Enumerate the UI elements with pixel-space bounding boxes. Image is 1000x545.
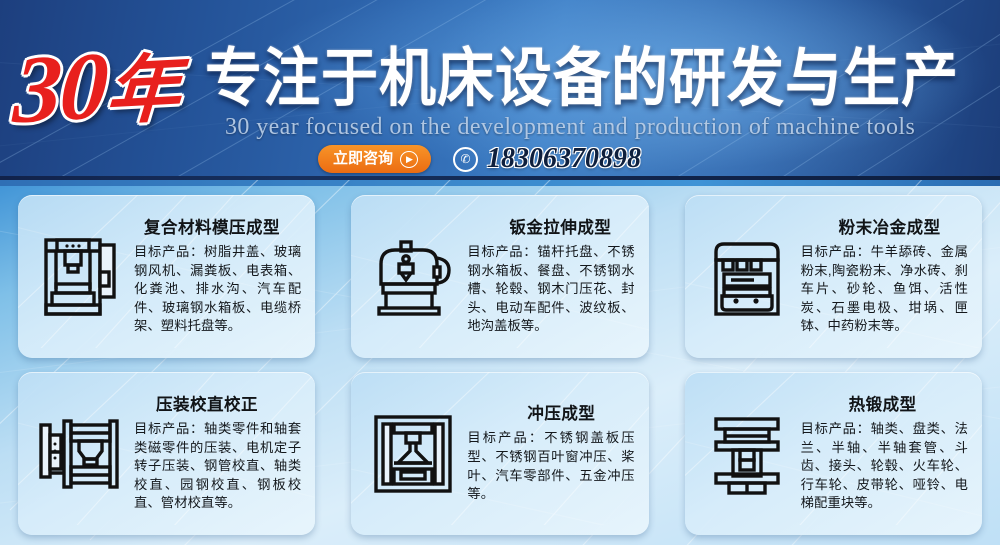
card-text-block: 粉末冶金成型 目标产品：牛羊舔砖、金属粉末,陶瓷粉末、净水砖、刹车片、砂轮、鱼饵…: [795, 217, 972, 336]
products-section: 复合材料模压成型 目标产品：树脂井盖、玻璃钢风机、漏粪板、电表箱、化粪池、排水沟…: [0, 180, 1000, 545]
product-card[interactable]: 冲压成型 目标产品：不锈钢盖板压型、不锈钢百叶窗冲压、桨叶、汽车零部件、五金冲压…: [351, 372, 648, 535]
card-description: 目标产品：轴类零件和轴套类磁零件的压装、电机定子转子压装、钢管校直、轴类校直、园…: [134, 420, 301, 513]
card-title: 压装校直校正: [134, 394, 301, 416]
consult-now-button[interactable]: 立即咨询 ▶: [318, 145, 431, 173]
page-root: 30年 专注于机床设备的研发与生产 30 year focused on the…: [0, 0, 1000, 545]
compression-molding-press-icon: [32, 229, 128, 325]
hot-forging-press-icon: [699, 406, 795, 502]
hero-banner: 30年 专注于机床设备的研发与生产 30 year focused on the…: [0, 0, 1000, 180]
arrow-right-icon: ▶: [400, 151, 418, 168]
phone-icon: ✆: [453, 147, 478, 172]
card-title: 热锻成型: [801, 394, 968, 416]
stamping-press-icon: [365, 406, 461, 502]
card-title: 冲压成型: [467, 403, 634, 425]
consult-now-label: 立即咨询: [333, 145, 393, 173]
anniversary-logo: 30年: [10, 25, 217, 155]
card-text-block: 压装校直校正 目标产品：轴类零件和轴套类磁零件的压装、电机定子转子压装、钢管校直…: [128, 394, 305, 513]
press-fitting-straightening-icon: [32, 406, 128, 502]
banner-cta-row: 立即咨询 ▶ ✆ 18306370898: [318, 144, 641, 174]
powder-metallurgy-press-icon: [699, 229, 795, 325]
anniversary-years: 30: [11, 31, 109, 143]
banner-subheadline: 30 year focused on the development and p…: [225, 113, 985, 141]
phone-block[interactable]: ✆ 18306370898: [453, 144, 641, 174]
card-title: 钣金拉伸成型: [467, 217, 634, 239]
card-description: 目标产品：锚杆托盘、不锈钢水箱板、餐盘、不锈钢水槽、轮毂、钢木门压花、封头、电动…: [467, 243, 634, 336]
product-card[interactable]: 热锻成型 目标产品：轴类、盘类、法兰、半轴、半轴套管、斗齿、接头、轮毂、火车轮、…: [685, 372, 982, 535]
card-description: 目标产品：轴类、盘类、法兰、半轴、半轴套管、斗齿、接头、轮毂、火车轮、行车轮、皮…: [801, 420, 968, 513]
product-card[interactable]: 复合材料模压成型 目标产品：树脂井盖、玻璃钢风机、漏粪板、电表箱、化粪池、排水沟…: [18, 195, 315, 358]
product-card[interactable]: 压装校直校正 目标产品：轴类零件和轴套类磁零件的压装、电机定子转子压装、钢管校直…: [18, 372, 315, 535]
anniversary-unit: 年: [104, 49, 181, 135]
card-title: 粉末冶金成型: [801, 217, 968, 239]
card-text-block: 钣金拉伸成型 目标产品：锚杆托盘、不锈钢水箱板、餐盘、不锈钢水槽、轮毂、钢木门压…: [461, 217, 638, 336]
card-text-block: 热锻成型 目标产品：轴类、盘类、法兰、半轴、半轴套管、斗齿、接头、轮毂、火车轮、…: [795, 394, 972, 513]
card-title: 复合材料模压成型: [134, 217, 301, 239]
product-card-grid: 复合材料模压成型 目标产品：树脂井盖、玻璃钢风机、漏粪板、电表箱、化粪池、排水沟…: [0, 190, 1000, 540]
card-text-block: 复合材料模压成型 目标产品：树脂井盖、玻璃钢风机、漏粪板、电表箱、化粪池、排水沟…: [128, 217, 305, 336]
sheet-metal-drawing-press-icon: [365, 229, 461, 325]
card-description: 目标产品：不锈钢盖板压型、不锈钢百叶窗冲压、桨叶、汽车零部件、五金冲压等。: [467, 429, 634, 503]
card-text-block: 冲压成型 目标产品：不锈钢盖板压型、不锈钢百叶窗冲压、桨叶、汽车零部件、五金冲压…: [461, 403, 638, 503]
card-description: 目标产品：树脂井盖、玻璃钢风机、漏粪板、电表箱、化粪池、排水沟、汽车配件、玻璃钢…: [134, 243, 301, 336]
phone-number: 18306370898: [487, 144, 641, 174]
product-card[interactable]: 粉末冶金成型 目标产品：牛羊舔砖、金属粉末,陶瓷粉末、净水砖、刹车片、砂轮、鱼饵…: [685, 195, 982, 358]
card-description: 目标产品：牛羊舔砖、金属粉末,陶瓷粉末、净水砖、刹车片、砂轮、鱼饵、活性炭、石墨…: [801, 243, 968, 336]
banner-headline: 专注于机床设备的研发与生产: [205, 42, 995, 116]
product-card[interactable]: 钣金拉伸成型 目标产品：锚杆托盘、不锈钢水箱板、餐盘、不锈钢水槽、轮毂、钢木门压…: [351, 195, 648, 358]
